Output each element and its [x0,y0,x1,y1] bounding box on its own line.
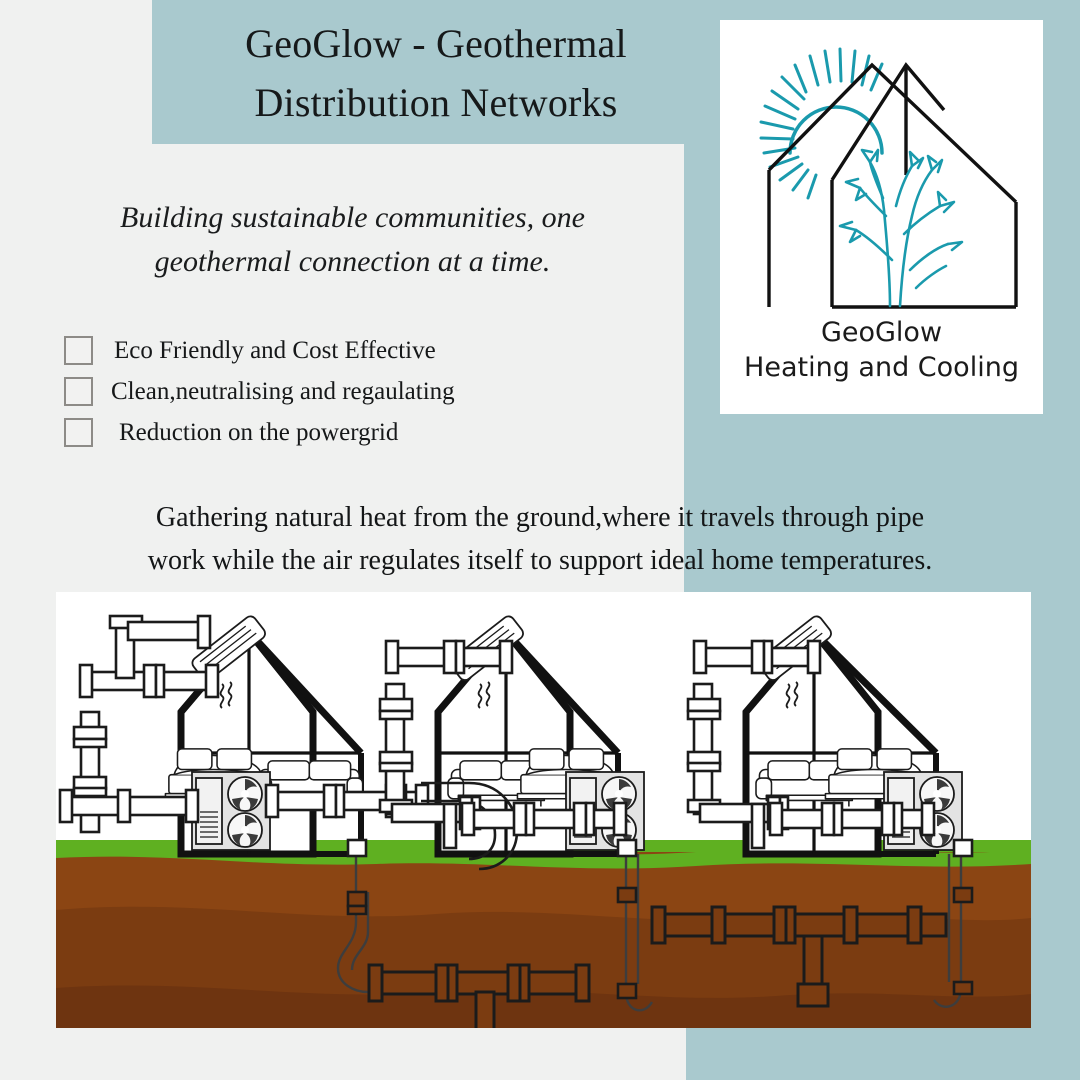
poster-canvas: GeoGlow - Geothermal Distribution Networ… [0,0,1080,1080]
logo-artwork [720,20,1043,320]
page-title-line-1: GeoGlow - Geothermal [152,14,720,73]
geothermal-illustration [56,592,1031,1028]
checkbox-icon[interactable] [64,418,93,447]
logo-card: GeoGlow Heating and Cooling [720,20,1043,414]
tagline-line-2: geothermal connection at a time. [55,240,650,284]
page-title: GeoGlow - Geothermal Distribution Networ… [152,14,720,132]
tagline: Building sustainable communities, one ge… [55,196,650,283]
list-item-label: Reduction on the powergrid [119,419,398,447]
background-gray-corner [0,0,152,144]
logo-name-line-1: GeoGlow [720,316,1043,351]
body-copy: Gathering natural heat from the ground,w… [52,496,1028,583]
body-copy-line-1: Gathering natural heat from the ground,w… [52,496,1028,539]
page-title-line-2: Distribution Networks [152,73,720,132]
checkbox-icon[interactable] [64,336,93,365]
house-outline-icon [769,65,1016,307]
body-copy-line-2: work while the air regulates itself to s… [52,539,1028,582]
background-gray-footer [0,1028,686,1080]
logo-name-line-2: Heating and Cooling [720,351,1043,386]
tagline-line-1: Building sustainable communities, one [55,196,650,240]
list-item[interactable]: Clean,neutralising and regaulating [64,371,664,412]
list-item[interactable]: Reduction on the powergrid [64,412,664,453]
tree-icon [840,150,962,306]
list-item-label: Clean,neutralising and regaulating [111,378,455,406]
logo-wordmark: GeoGlow Heating and Cooling [720,316,1043,385]
list-item[interactable]: Eco Friendly and Cost Effective [64,330,664,371]
feature-checklist: Eco Friendly and Cost Effective Clean,ne… [64,330,664,453]
list-item-label: Eco Friendly and Cost Effective [114,337,436,365]
checkbox-icon[interactable] [64,377,93,406]
